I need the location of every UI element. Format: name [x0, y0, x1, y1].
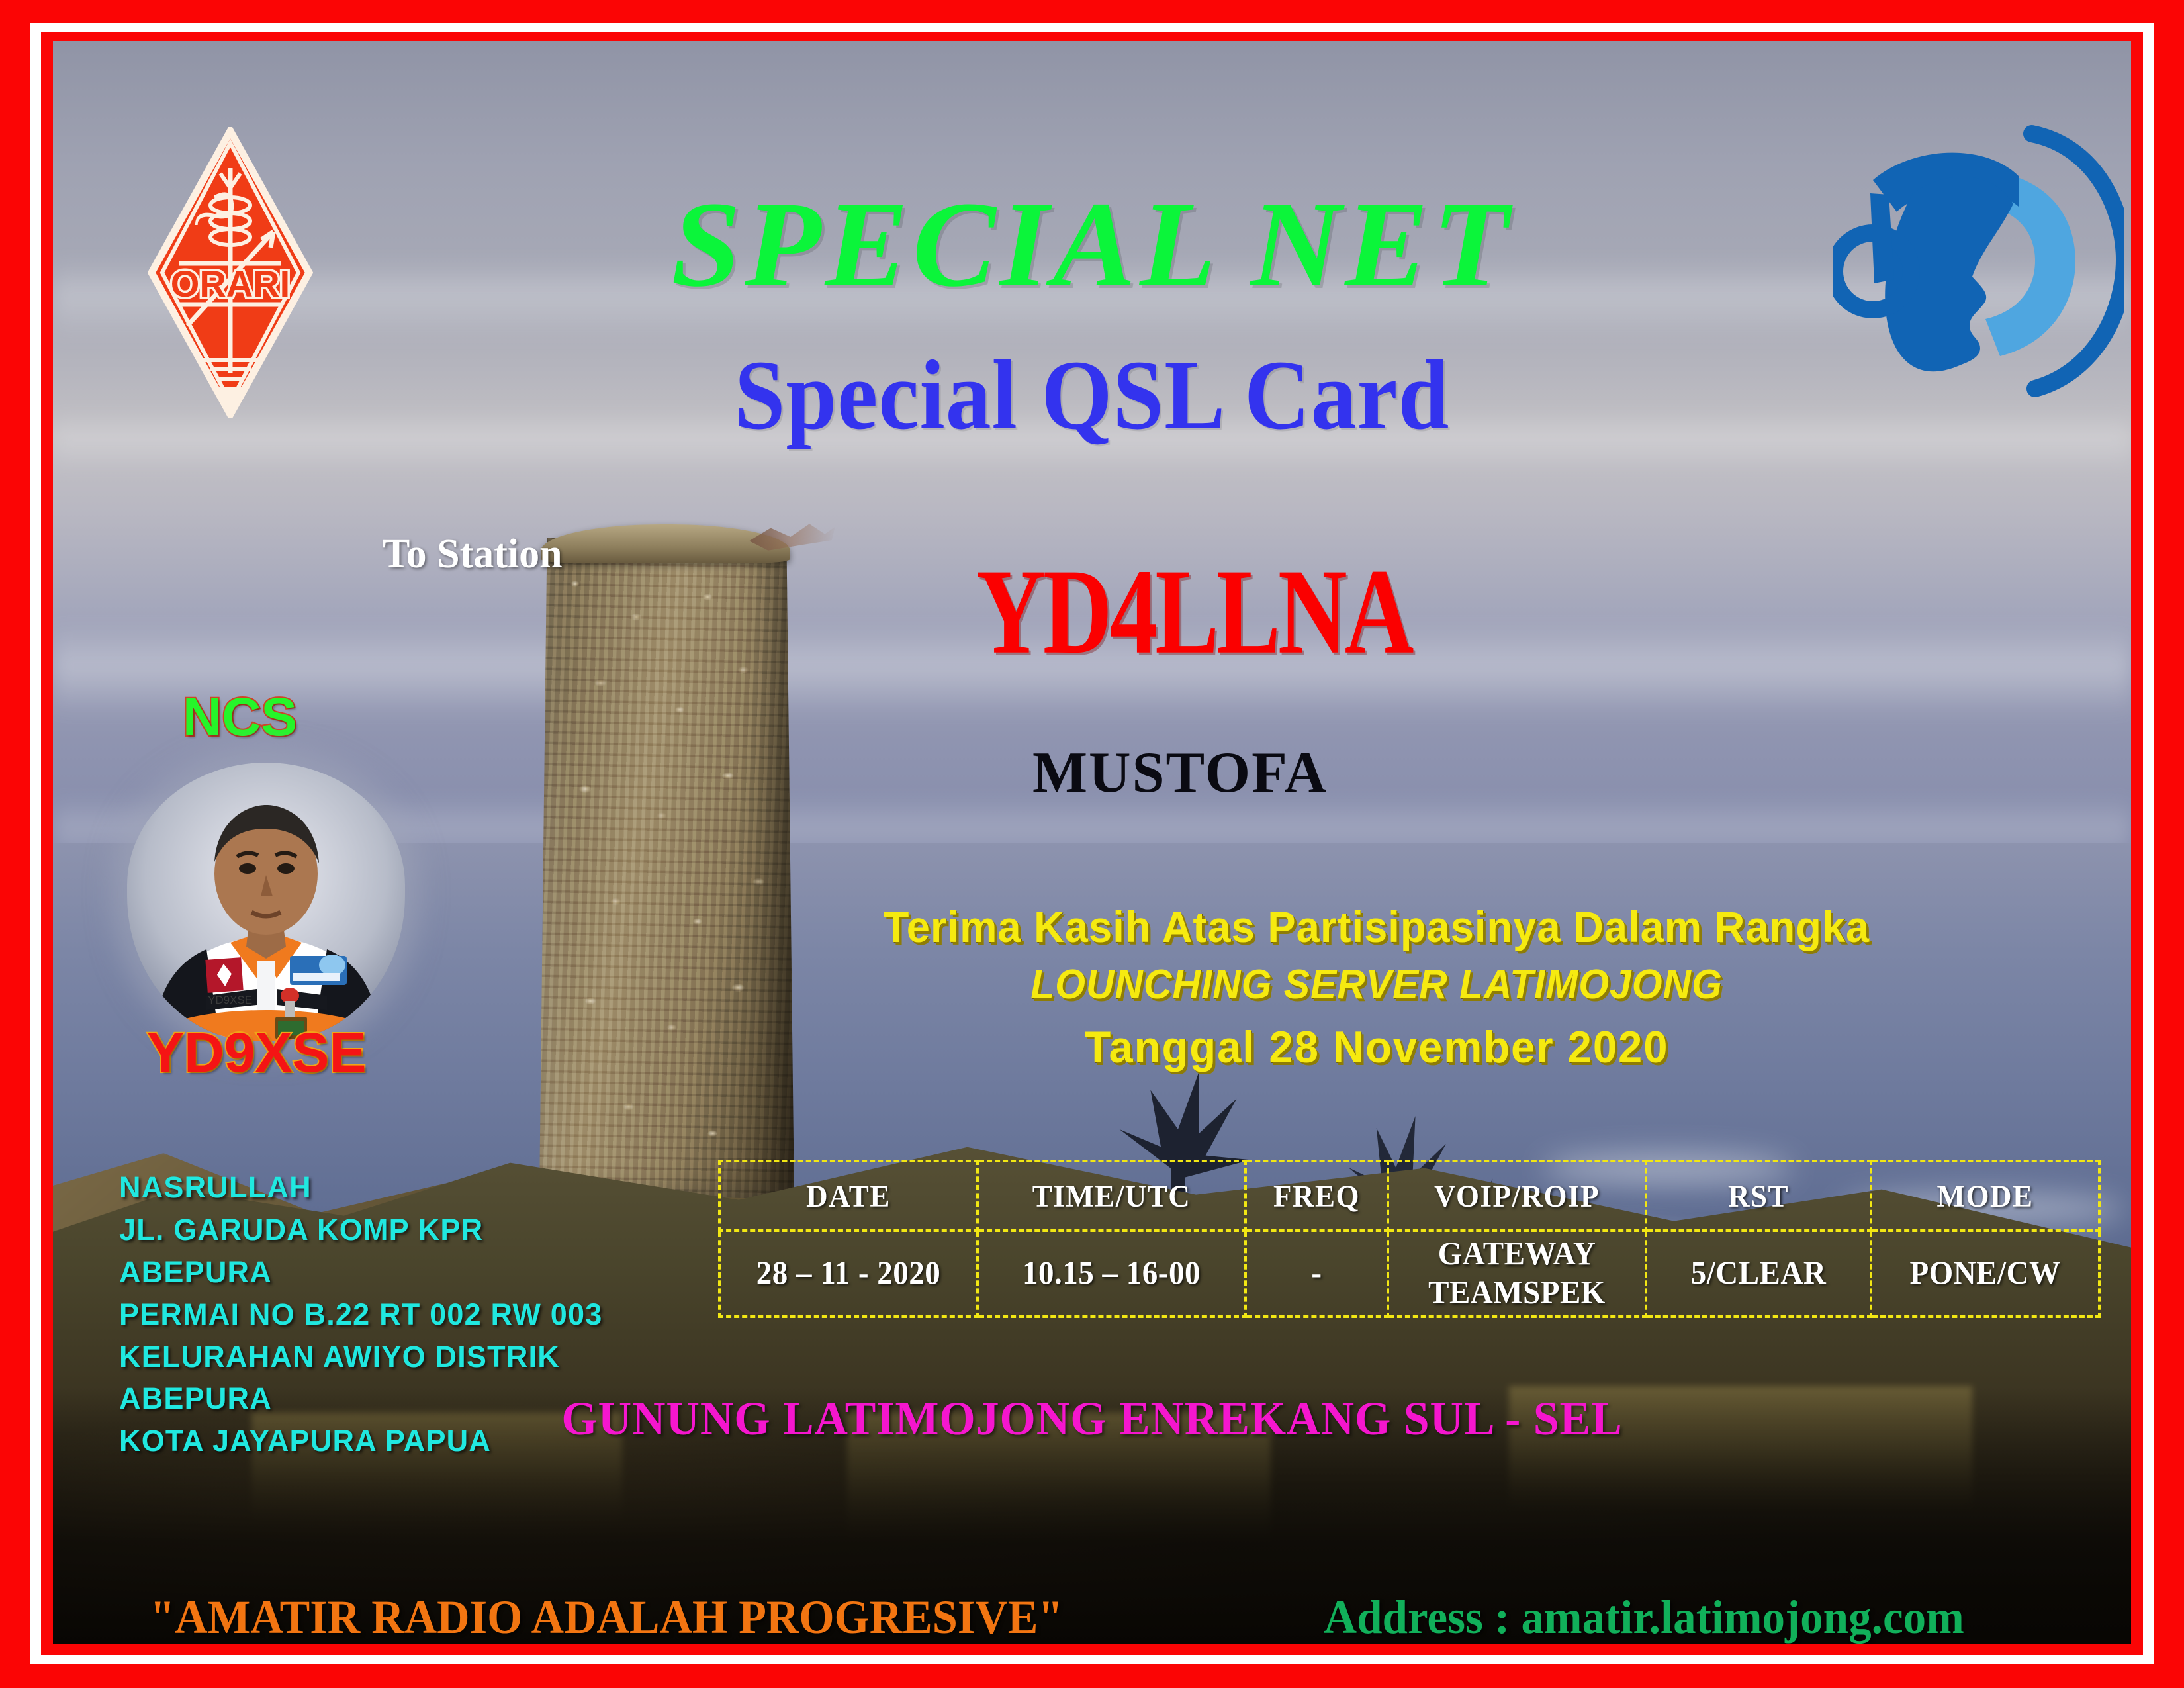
cell-rst: 5/CLEAR — [1646, 1228, 1871, 1319]
background-photo-mountain-summit: ORARI SPE — [53, 41, 2131, 1644]
table-header-freq: FREQ — [1246, 1159, 1388, 1233]
overlay-content-layer: ORARI SPE — [53, 41, 2131, 1644]
cell-voip: GATEWAYTEAMSPEK — [1388, 1228, 1646, 1319]
qsl-card: ORARI SPE — [0, 0, 2184, 1688]
table-header-rst: RST — [1646, 1159, 1871, 1233]
operator-name: MUSTOFA — [1032, 739, 1328, 806]
cell-freq: - — [1246, 1228, 1388, 1319]
thanks-line-3: Tanggal 28 November 2020 — [760, 1021, 1993, 1073]
footer-website-address: Address : amatir.latimojong.com — [1324, 1590, 1964, 1644]
table-header-time: TIME/UTC — [978, 1159, 1246, 1233]
ncs-label: NCS — [183, 686, 297, 749]
table-header-date: DATE — [719, 1159, 978, 1233]
thanks-line-2: LOUNCHING SERVER LATIMOJONG — [767, 961, 1987, 1008]
ncs-callsign: YD9XSE — [147, 1021, 367, 1085]
station-callsign: YD4LLNA — [976, 551, 1412, 673]
qso-log-table: DATE TIME/UTC FREQ VOIP/ROIP RST MODE 28… — [718, 1160, 2101, 1318]
to-station-label: To Station — [383, 531, 563, 578]
page-title-special-net: SPECIAL NET — [53, 183, 2131, 306]
table-header-mode: MODE — [1871, 1159, 2099, 1233]
ncs-operator-avatar: YD9XSE — [127, 763, 405, 1041]
table-row: 28 – 11 - 2020 10.15 – 16-00 - GATEWAYTE… — [719, 1231, 2099, 1317]
event-location-line: GUNUNG LATIMOJONG ENREKANG SUL - SEL — [84, 1391, 2100, 1446]
address-line: ABEPURA — [119, 1251, 603, 1293]
address-line: PERMAI NO B.22 RT 002 RW 003 — [119, 1293, 603, 1336]
table-header-voip: VOIP/ROIP — [1388, 1159, 1646, 1233]
address-line: JL. GARUDA KOMP KPR — [119, 1209, 603, 1251]
operator-portrait-illustration: YD9XSE — [127, 763, 405, 1041]
thanks-message-block: Terima Kasih Atas Partisipasinya Dalam R… — [735, 902, 2019, 1073]
address-line: KELURAHAN AWIYO DISTRIK — [119, 1336, 603, 1378]
cell-mode: PONE/CW — [1871, 1228, 2099, 1319]
uniform-callsign-text: YD9XSE — [208, 994, 252, 1006]
address-line: NASRULLAH — [119, 1166, 603, 1209]
page-subtitle-qsl-card: Special QSL Card — [136, 346, 2048, 445]
thanks-line-1: Terima Kasih Atas Partisipasinya Dalam R… — [760, 902, 1993, 952]
cell-date: 28 – 11 - 2020 — [719, 1228, 978, 1319]
footer-motto: "AMATIR RADIO ADALAH PROGRESIVE" — [150, 1590, 1063, 1644]
cell-time: 10.15 – 16-00 — [978, 1228, 1246, 1319]
table-header-row: DATE TIME/UTC FREQ VOIP/ROIP RST MODE — [719, 1161, 2099, 1231]
